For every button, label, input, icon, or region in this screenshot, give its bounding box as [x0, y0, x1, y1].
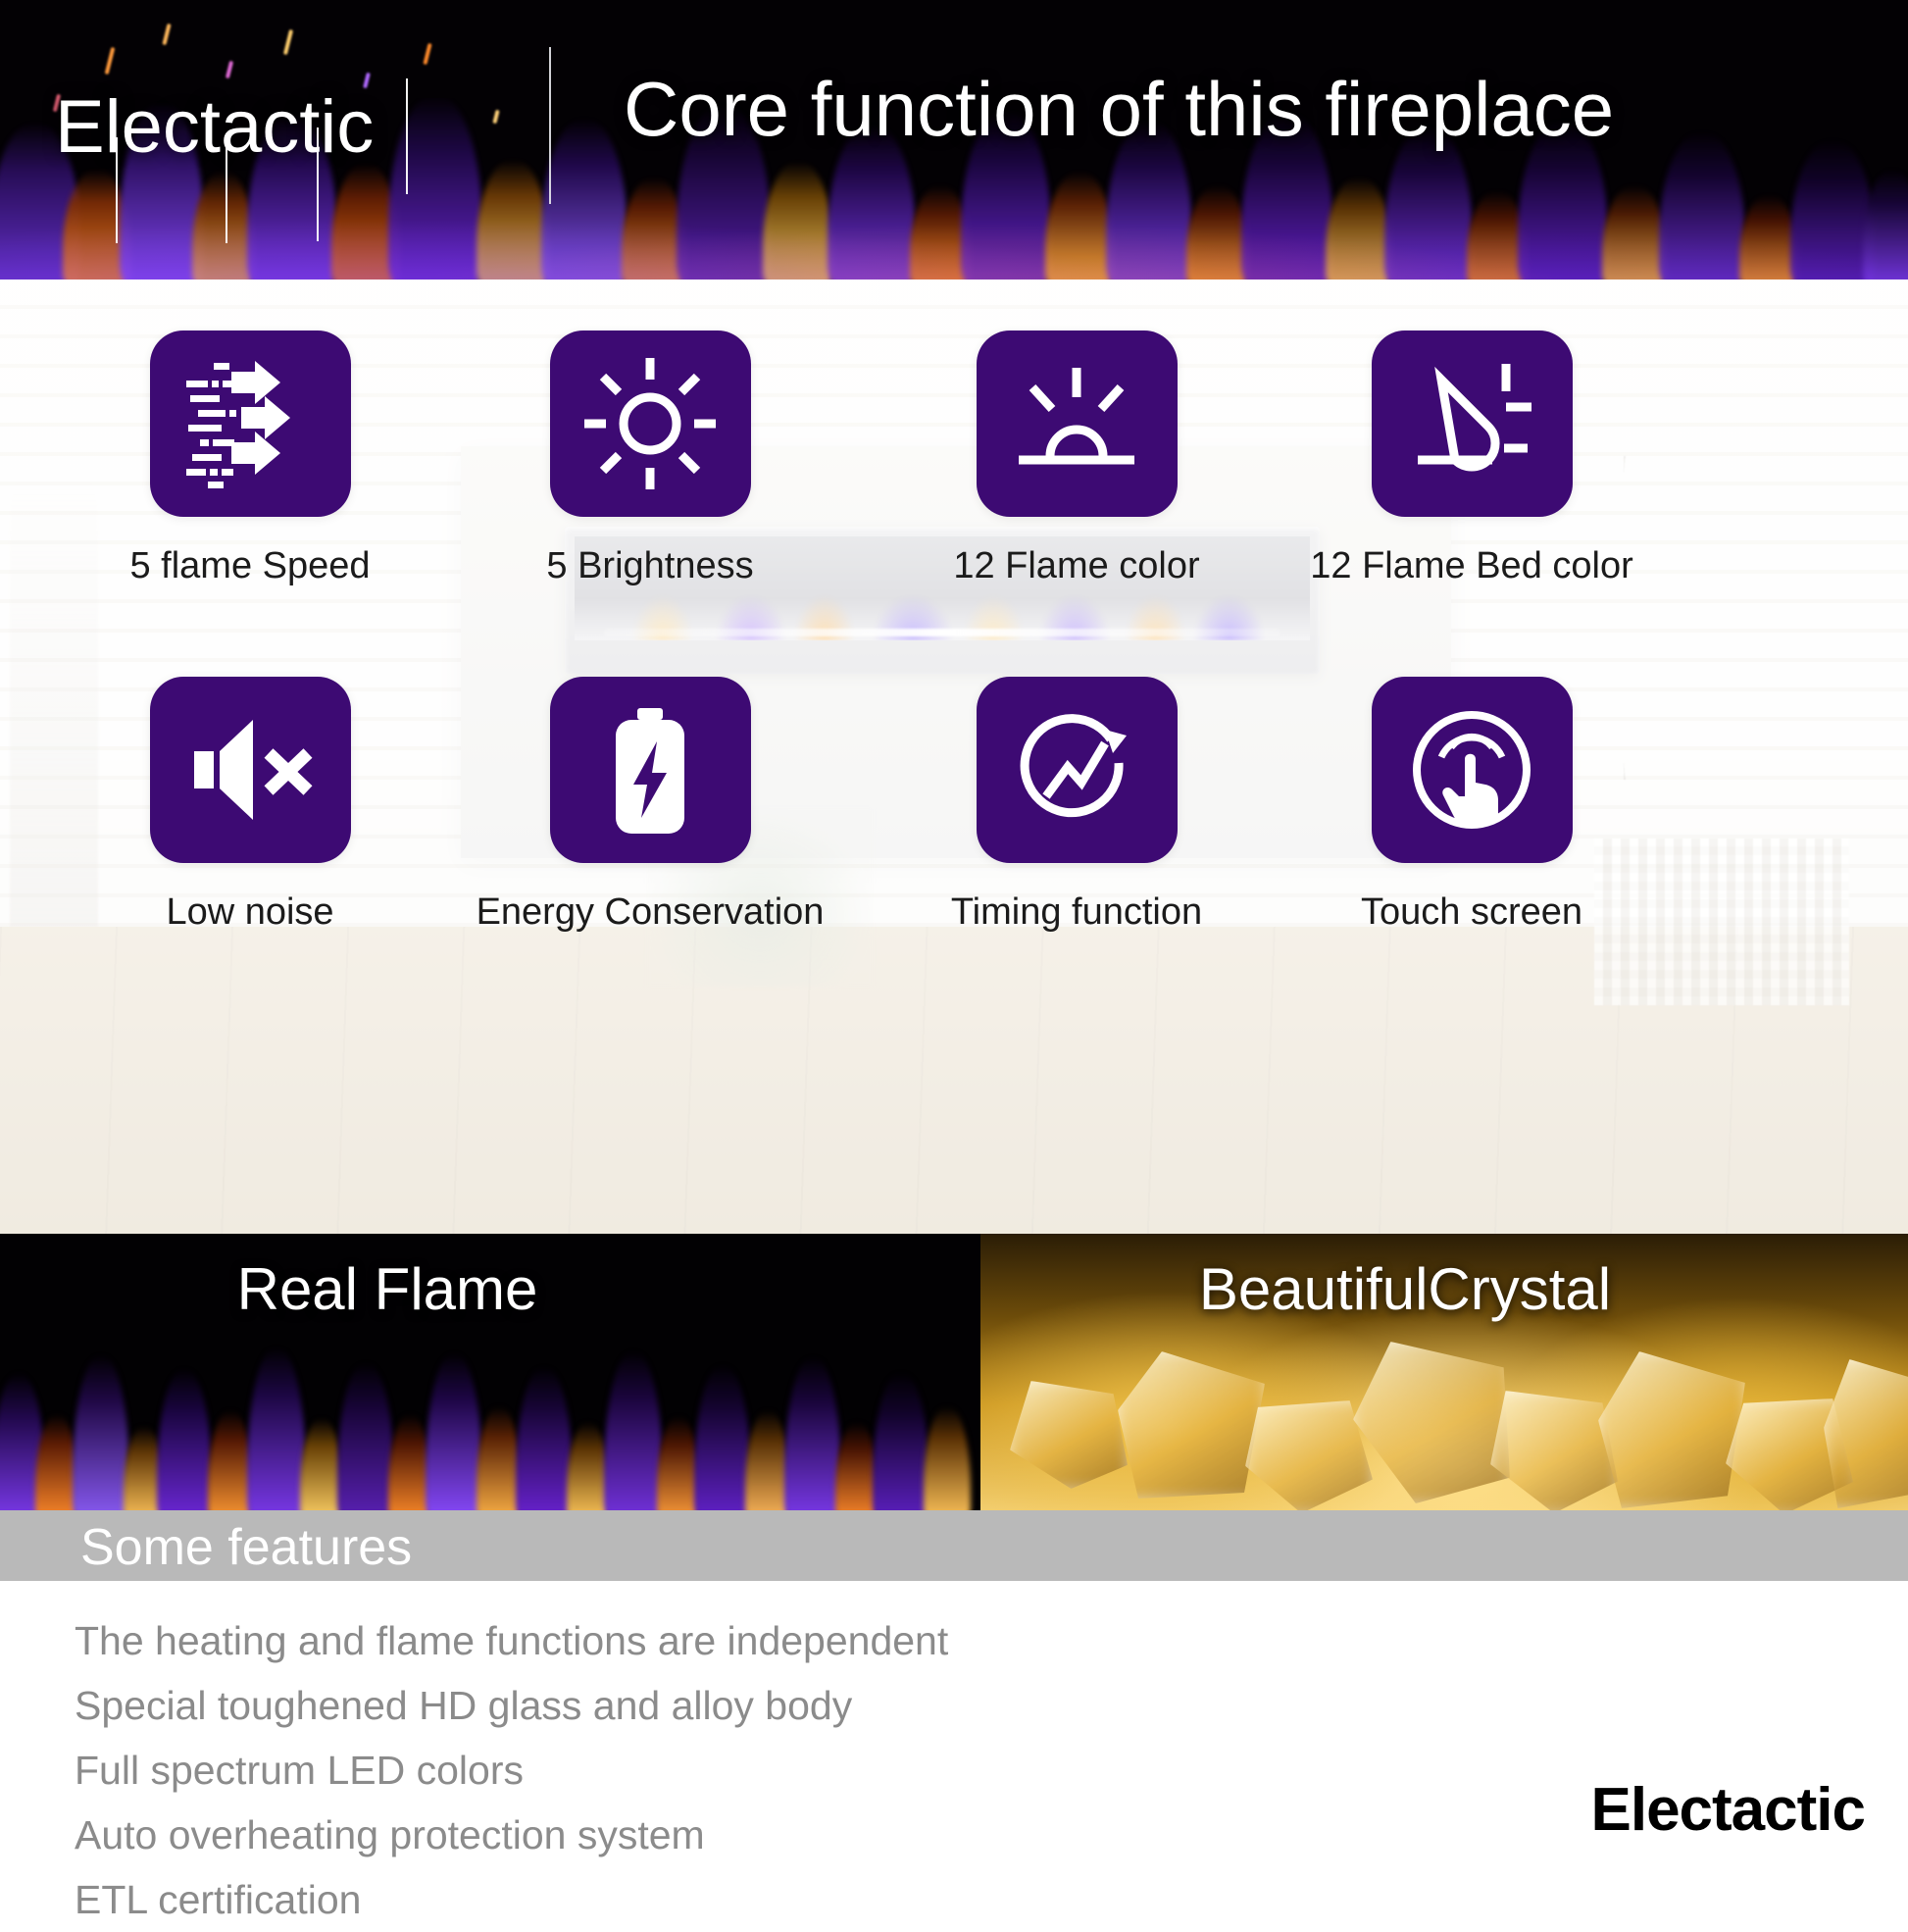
feature-label: 5 Brightness [546, 546, 753, 587]
brand-logo-text: Electactic [55, 76, 374, 178]
flame-color-sunrise-icon [1003, 350, 1150, 497]
header-banner: Electactic Core function of this firepla… [0, 0, 1908, 280]
real-flame-pane: Real Flame [0, 1234, 980, 1510]
feature-grid-section: 5 flame Speed [0, 280, 1908, 1234]
feature-tile[interactable] [1372, 330, 1573, 517]
battery-bolt-icon [577, 696, 724, 843]
feature-label: 12 Flame color [953, 546, 1199, 587]
header-divider [549, 47, 551, 204]
dual-image-banner: Real Flame BeautifulCrystal [0, 1234, 1908, 1510]
brightness-sun-icon [577, 350, 724, 497]
feature-tile[interactable] [977, 677, 1178, 863]
feature-tile[interactable] [977, 330, 1178, 517]
feature-list-item: Auto overheating protection system [75, 1803, 1251, 1867]
logo-tick-decoration [226, 133, 227, 243]
feature-cell-energy-conservation[interactable]: Energy Conservation [412, 677, 888, 1098]
feature-label: Energy Conservation [477, 892, 825, 934]
feature-label: Timing function [951, 892, 1202, 934]
real-flame-title: Real Flame [0, 1255, 980, 1323]
feature-list-item: Full spectrum LED colors [75, 1738, 1251, 1803]
beautiful-crystal-pane: BeautifulCrystal [980, 1234, 1908, 1510]
feature-list-item: ETL certification [75, 1867, 1251, 1932]
flame-bed-color-lamp-icon [1398, 350, 1545, 497]
icon-grid: 5 flame Speed [0, 280, 1908, 1234]
timer-arrow-icon [1003, 696, 1150, 843]
page-title: Core function of this fireplace [624, 65, 1614, 154]
feature-label: Low noise [166, 892, 333, 934]
feature-tile[interactable] [550, 677, 751, 863]
footer-brand-logo: Electactic [1590, 1775, 1865, 1845]
feature-label: 12 Flame Bed color [1310, 546, 1633, 587]
some-features-heading: Some features [80, 1518, 412, 1577]
feature-label: 5 flame Speed [129, 546, 370, 587]
speaker-mute-icon [176, 696, 324, 843]
brand-logo: Electactic [55, 76, 477, 186]
feature-tile[interactable] [1372, 677, 1573, 863]
beautiful-crystal-title: BeautifulCrystal [980, 1255, 1908, 1323]
feature-label: Touch screen [1361, 892, 1582, 934]
feature-tile[interactable] [550, 330, 751, 517]
some-features-list: The heating and flame functions are inde… [75, 1608, 1251, 1932]
logo-tick-decoration [116, 137, 118, 243]
feature-tile[interactable] [150, 330, 351, 517]
logo-tick-decoration [317, 127, 319, 241]
feature-tile[interactable] [150, 677, 351, 863]
touch-hand-icon [1398, 696, 1545, 843]
feature-list-item: Special toughened HD glass and alloy bod… [75, 1673, 1251, 1738]
feature-list-item: The heating and flame functions are inde… [75, 1608, 1251, 1673]
logo-tick-decoration [406, 78, 408, 194]
feature-cell-touch-screen[interactable]: Touch screen [1233, 677, 1710, 1098]
flame-speed-arrows-icon [176, 350, 324, 497]
flame-photo [0, 1295, 980, 1510]
